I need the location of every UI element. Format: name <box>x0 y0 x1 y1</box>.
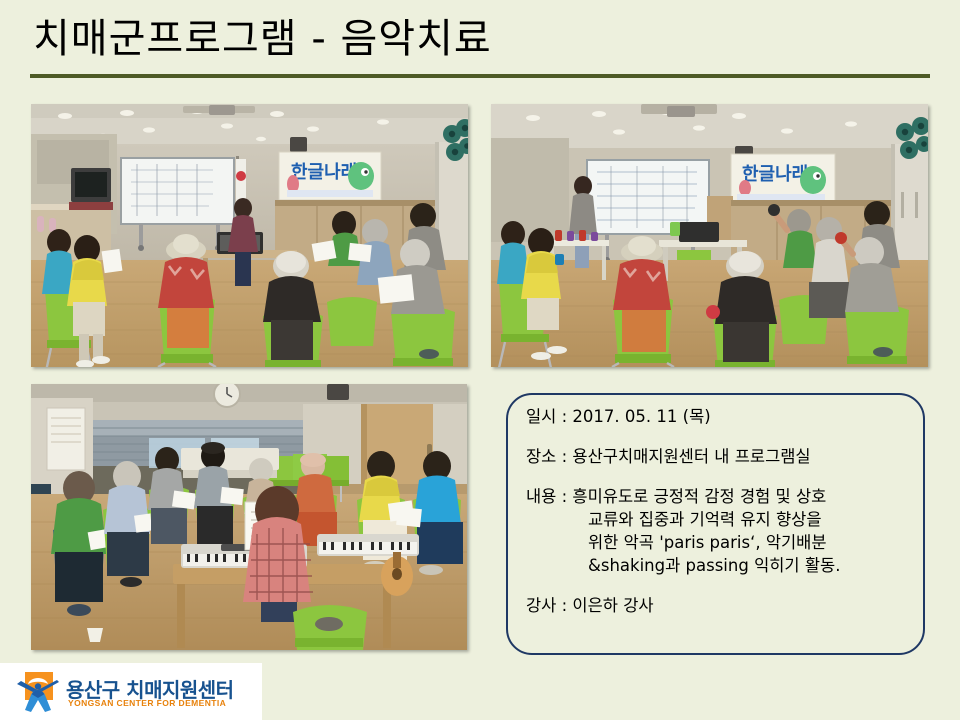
info-content-line-3: 위한 악곡 'paris paris‘, 악기배분 <box>526 531 913 554</box>
svg-text:한글나래: 한글나래 <box>291 162 357 183</box>
info-label-place: 장소 : <box>526 447 567 466</box>
info-value-content: 흥미유도로 긍정적 감정 경험 및 상호 <box>572 487 826 506</box>
info-row-instructor: 강사 : 이은하 강사 <box>526 594 913 617</box>
page-title: 치매군프로그램 - 음악치료 <box>33 16 492 62</box>
info-label-date: 일시 : <box>526 407 567 426</box>
program-photo-1[interactable]: 한글나래 <box>31 104 468 367</box>
info-content-line-4: &shaking과 passing 익히기 활동. <box>526 554 913 577</box>
photo-1-scene: 한글나래 <box>31 104 468 367</box>
photo-3-scene <box>31 384 467 650</box>
program-info-box: 일시 : 2017. 05. 11 (목) 장소 : 용산구치매지원센터 내 프… <box>506 393 925 655</box>
logo-mark-shape <box>17 672 59 712</box>
info-content-line-2: 교류와 집중과 기억력 유지 향상을 <box>526 508 913 531</box>
info-label-content: 내용 : <box>526 487 567 506</box>
photo-2-scene: 한글나래 <box>491 104 928 367</box>
info-value-place: 용산구치매지원센터 내 프로그램실 <box>572 447 810 466</box>
program-photo-3[interactable] <box>31 384 467 650</box>
info-row-content: 내용 : 흥미유도로 긍정적 감정 경험 및 상호 교류와 집중과 기억력 유지… <box>526 485 913 577</box>
info-row-place: 장소 : 용산구치매지원센터 내 프로그램실 <box>526 445 913 468</box>
info-label-instructor: 강사 : <box>526 596 567 615</box>
yongsan-logo-icon <box>17 672 59 712</box>
title-divider <box>30 74 930 78</box>
logo-name-english: YONGSAN CENTER FOR DEMENTIA <box>68 698 226 708</box>
info-value-date: 2017. 05. 11 (목) <box>572 407 710 426</box>
program-info-lines: 일시 : 2017. 05. 11 (목) 장소 : 용산구치매지원센터 내 프… <box>526 405 913 634</box>
slide-canvas: 치매군프로그램 - 음악치료 <box>0 0 960 720</box>
info-value-instructor: 이은하 강사 <box>572 596 653 615</box>
program-photo-2[interactable]: 한글나래 <box>491 104 928 367</box>
svg-text:한글나래: 한글나래 <box>742 164 808 185</box>
info-row-date: 일시 : 2017. 05. 11 (목) <box>526 405 913 428</box>
